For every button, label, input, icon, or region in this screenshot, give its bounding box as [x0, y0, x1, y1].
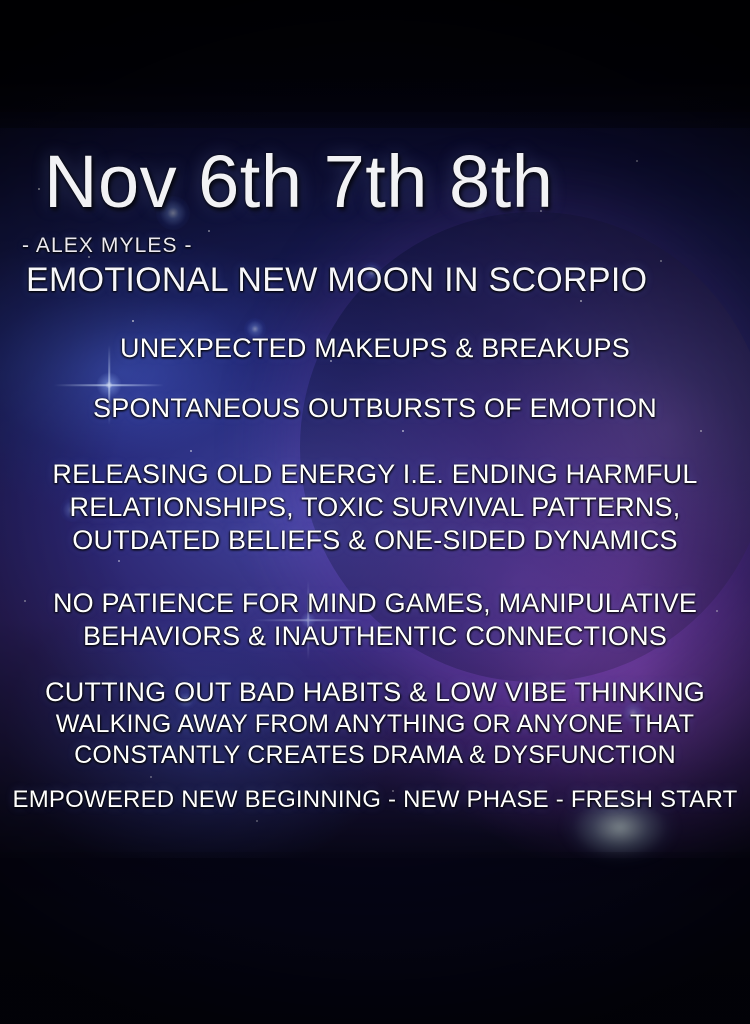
- text-block-empowered: EMPOWERED NEW BEGINNING - NEW PHASE - FR…: [0, 785, 750, 815]
- subheadline: EMOTIONAL NEW MOON IN SCORPIO: [26, 260, 647, 300]
- poster-text-content: Nov 6th 7th 8th - ALEX MYLES - EMOTIONAL…: [0, 0, 750, 1024]
- author-byline: - ALEX MYLES -: [22, 234, 193, 258]
- text-line: EMPOWERED NEW BEGINNING - NEW PHASE - FR…: [0, 785, 750, 815]
- text-block-makeups-breakups: UNEXPECTED MAKEUPS & BREAKUPS: [0, 332, 750, 365]
- moon-poster: Nov 6th 7th 8th - ALEX MYLES - EMOTIONAL…: [0, 0, 750, 1024]
- text-line: OUTDATED BELIEFS & ONE-SIDED DYNAMICS: [0, 524, 750, 557]
- text-line: SPONTANEOUS OUTBURSTS OF EMOTION: [0, 392, 750, 425]
- headline-date: Nov 6th 7th 8th: [44, 142, 553, 222]
- text-line: CONSTANTLY CREATES DRAMA & DYSFUNCTION: [0, 740, 750, 771]
- text-line: WALKING AWAY FROM ANYTHING OR ANYONE THA…: [0, 709, 750, 740]
- text-line: UNEXPECTED MAKEUPS & BREAKUPS: [0, 332, 750, 365]
- text-block-outbursts: SPONTANEOUS OUTBURSTS OF EMOTION: [0, 392, 750, 425]
- text-block-releasing-old-energy: RELEASING OLD ENERGY I.E. ENDING HARMFUL…: [0, 458, 750, 557]
- text-line: NO PATIENCE FOR MIND GAMES, MANIPULATIVE: [0, 587, 750, 620]
- text-block-no-patience: NO PATIENCE FOR MIND GAMES, MANIPULATIVE…: [0, 587, 750, 653]
- text-line: BEHAVIORS & INAUTHENTIC CONNECTIONS: [0, 620, 750, 653]
- text-line: CUTTING OUT BAD HABITS & LOW VIBE THINKI…: [0, 676, 750, 709]
- text-line: RELATIONSHIPS, TOXIC SURVIVAL PATTERNS,: [0, 491, 750, 524]
- text-line: RELEASING OLD ENERGY I.E. ENDING HARMFUL: [0, 458, 750, 491]
- text-block-cutting-out: CUTTING OUT BAD HABITS & LOW VIBE THINKI…: [0, 676, 750, 771]
